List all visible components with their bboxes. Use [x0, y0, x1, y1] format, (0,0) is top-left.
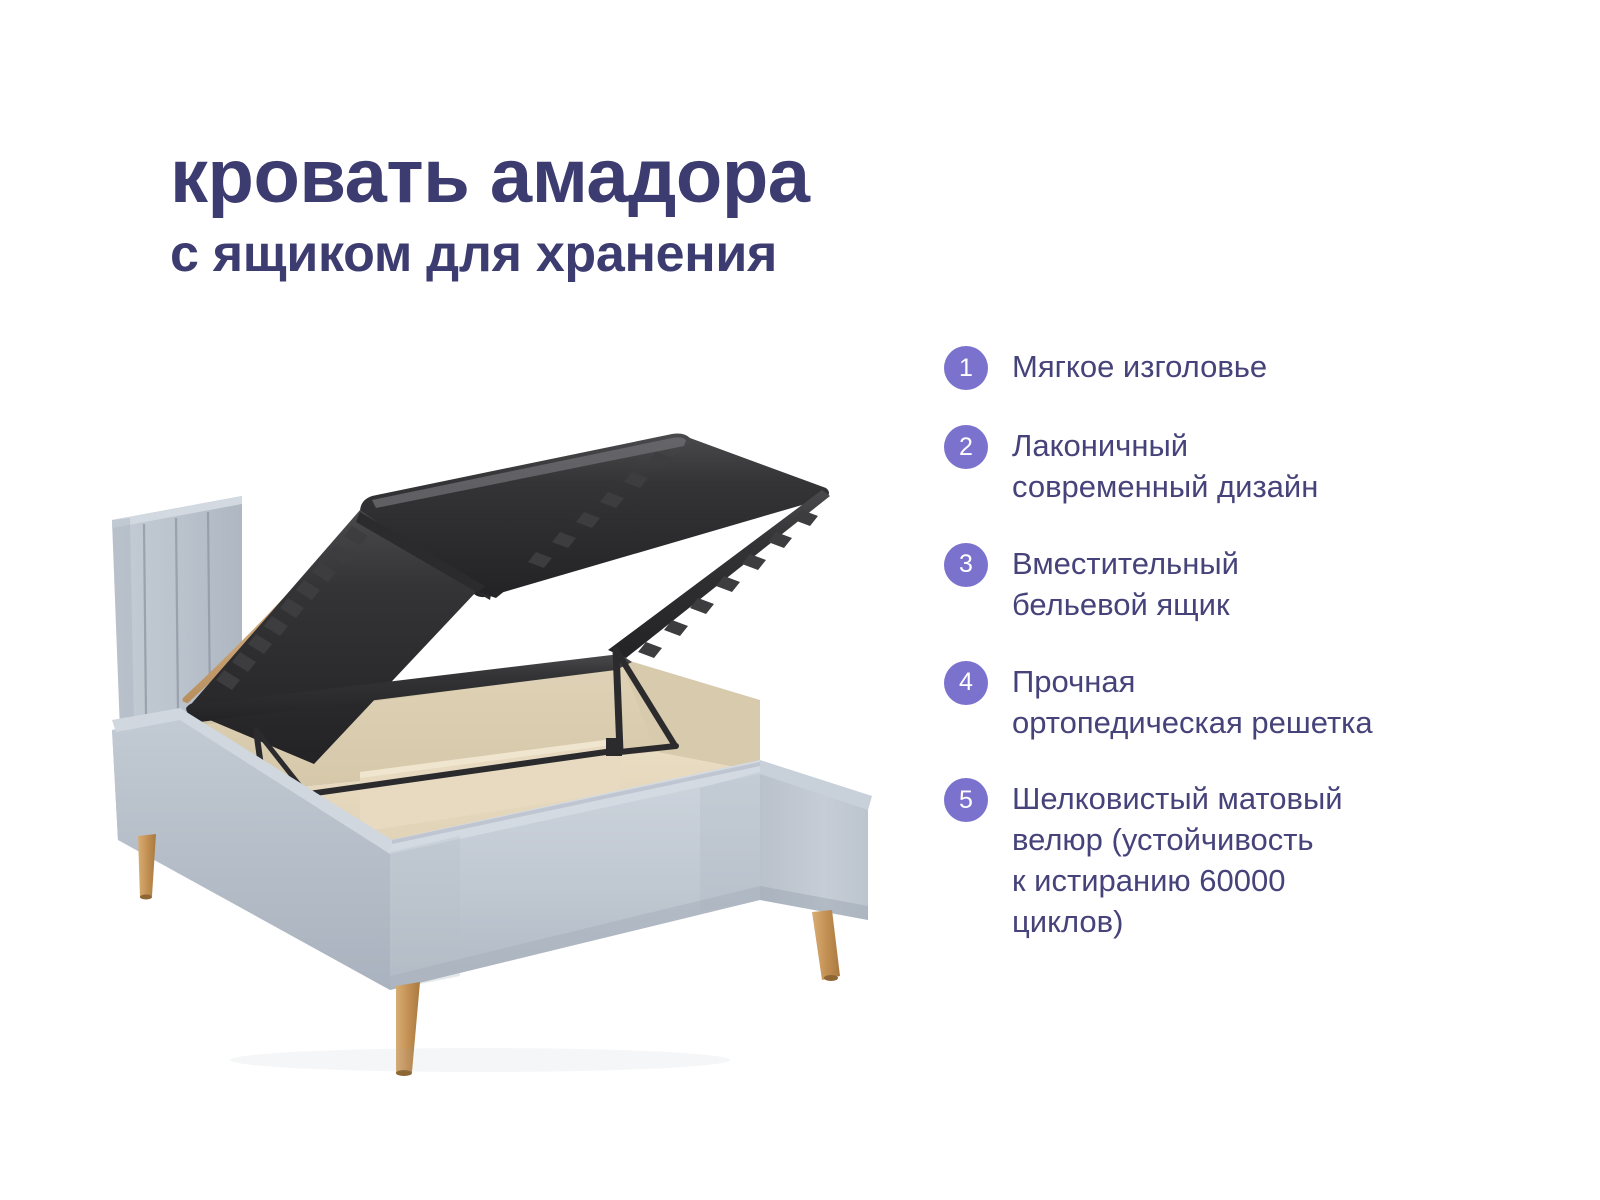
feature-item-3: 3 Вместительный бельевой ящик: [944, 542, 1544, 626]
feature-badge-2: 2: [944, 425, 988, 469]
leg-foot-right: [812, 910, 840, 980]
feature-item-2: 2 Лаконичный современный дизайн: [944, 424, 1544, 508]
feature-item-5: 5 Шелковистый матовый велюр (устойчивост…: [944, 777, 1544, 943]
feature-label-4: Прочная ортопедическая решетка: [1012, 660, 1373, 744]
feature-label-5: Шелковистый матовый велюр (устойчивость …: [1012, 777, 1343, 943]
page-subtitle: с ящиком для хранения: [170, 226, 1120, 283]
feature-badge-3: 3: [944, 543, 988, 587]
feature-badge-1: 1: [944, 346, 988, 390]
feature-list: 1 Мягкое изголовье 2 Лаконичный современ…: [944, 345, 1544, 977]
product-image: [60, 400, 960, 1080]
feature-badge-5: 5: [944, 778, 988, 822]
feature-label-2: Лаконичный современный дизайн: [1012, 424, 1318, 508]
page-title: кровать амадора: [170, 138, 1120, 216]
feature-label-3: Вместительный бельевой ящик: [1012, 542, 1239, 626]
feature-badge-4: 4: [944, 661, 988, 705]
feature-label-1: Мягкое изголовье: [1012, 345, 1267, 388]
feature-item-1: 1 Мягкое изголовье: [944, 345, 1544, 390]
infographic-page: кровать амадора с ящиком для хранения: [0, 0, 1600, 1200]
heading-block: кровать амадора с ящиком для хранения: [170, 138, 1120, 283]
leg-front-left: [138, 834, 156, 898]
feature-item-4: 4 Прочная ортопедическая решетка: [944, 660, 1544, 744]
